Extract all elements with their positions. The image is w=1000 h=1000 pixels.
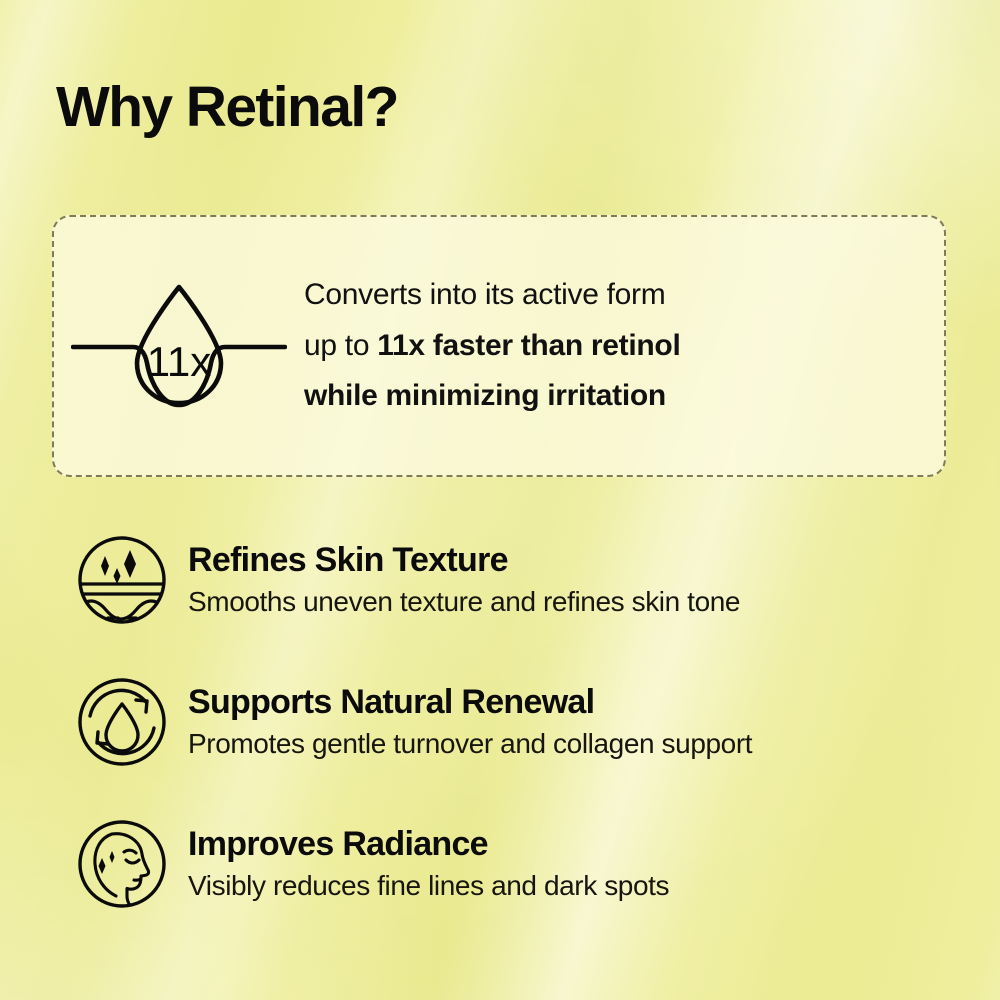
feature-subtitle: Promotes gentle turnover and collagen su… xyxy=(188,726,956,762)
radiant-face-profile-icon xyxy=(74,816,170,912)
callout-line-1: Converts into its active form xyxy=(304,270,680,320)
feature-body: Refines Skin Texture Smooths uneven text… xyxy=(188,540,956,621)
feature-subtitle: Visibly reduces fine lines and dark spot… xyxy=(188,868,956,904)
droplet-icon-label: 11x xyxy=(147,338,212,385)
page-title: Why Retinal? xyxy=(56,78,398,138)
callout-line-3: while minimizing irritation xyxy=(304,371,680,421)
feature-body: Supports Natural Renewal Promotes gentle… xyxy=(188,682,956,763)
sparkle-group xyxy=(101,550,136,584)
renewal-cycle-droplet-icon xyxy=(74,674,170,770)
skin-texture-icon xyxy=(74,532,170,628)
feature-subtitle: Smooths uneven texture and refines skin … xyxy=(188,584,956,620)
callout-text: Converts into its active form up to 11x … xyxy=(304,270,700,421)
droplet-absorption-icon: 11x xyxy=(71,273,287,419)
feature-icon-wrap xyxy=(56,532,188,628)
callout-card: 11x Converts into its active form up to … xyxy=(52,215,946,477)
feature-title: Improves Radiance xyxy=(188,824,956,864)
feature-title: Refines Skin Texture xyxy=(188,540,956,580)
feature-icon-wrap xyxy=(56,674,188,770)
infographic-canvas: Why Retinal? 11x Converts into its activ… xyxy=(0,0,1000,1000)
feature-row: Refines Skin Texture Smooths uneven text… xyxy=(56,532,956,628)
feature-body: Improves Radiance Visibly reduces fine l… xyxy=(188,824,956,905)
feature-row: Supports Natural Renewal Promotes gentle… xyxy=(56,674,956,770)
callout-icon-wrap: 11x xyxy=(54,273,304,419)
feature-icon-wrap xyxy=(56,816,188,912)
sparkle-group xyxy=(99,851,115,874)
feature-row: Improves Radiance Visibly reduces fine l… xyxy=(56,816,956,912)
callout-line-2-emphasis: 11x faster than retinol xyxy=(377,329,680,362)
callout-line-2-prefix: up to xyxy=(304,329,377,362)
feature-title: Supports Natural Renewal xyxy=(188,682,956,722)
callout-line-2: up to 11x faster than retinol xyxy=(304,321,680,371)
